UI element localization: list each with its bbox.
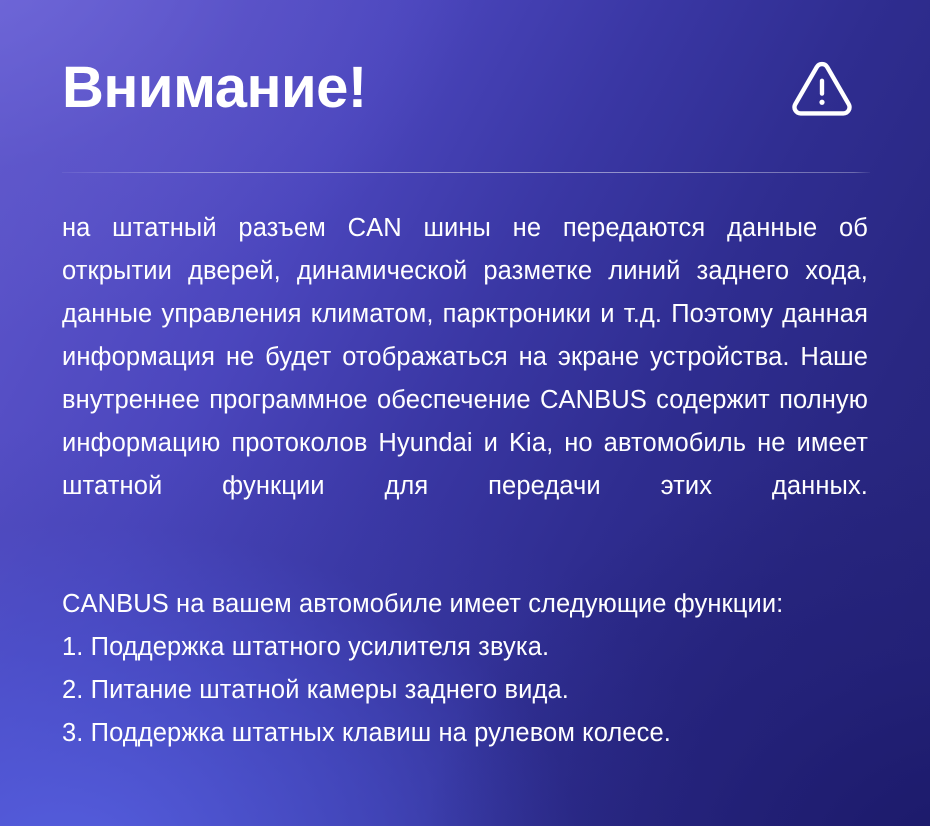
features-list: 1. Поддержка штатного усилителя звука. 2… [62,626,868,755]
notice-body: на штатный разъем CAN шины не передаются… [62,207,868,551]
notice-paragraph: на штатный разъем CAN шины не передаются… [62,207,868,551]
warning-triangle-icon [788,54,868,122]
feature-number: 3. [62,719,83,747]
list-item: 1. Поддержка штатного усилителя звука. [62,626,868,669]
list-item: 2. Питание штатной камеры заднего вида. [62,669,868,712]
list-item: 3. Поддержка штатных клавиш на рулевом к… [62,712,868,755]
notice-header: Внимание! [62,0,868,172]
feature-text: Поддержка штатных клавиш на рулевом коле… [91,719,671,747]
feature-number: 2. [62,676,83,704]
feature-text: Поддержка штатного усилителя звука. [91,633,550,661]
feature-text: Питание штатной камеры заднего вида. [91,676,569,704]
features-lead-text: CANBUS на вашем автомобиле имеет следующ… [62,583,868,626]
page-title: Внимание! [62,59,367,117]
header-divider [62,172,870,173]
notice-card: Внимание! на штатный разъем CAN шины не … [0,0,930,826]
feature-number: 1. [62,633,83,661]
features-section: CANBUS на вашем автомобиле имеет следующ… [62,583,868,755]
